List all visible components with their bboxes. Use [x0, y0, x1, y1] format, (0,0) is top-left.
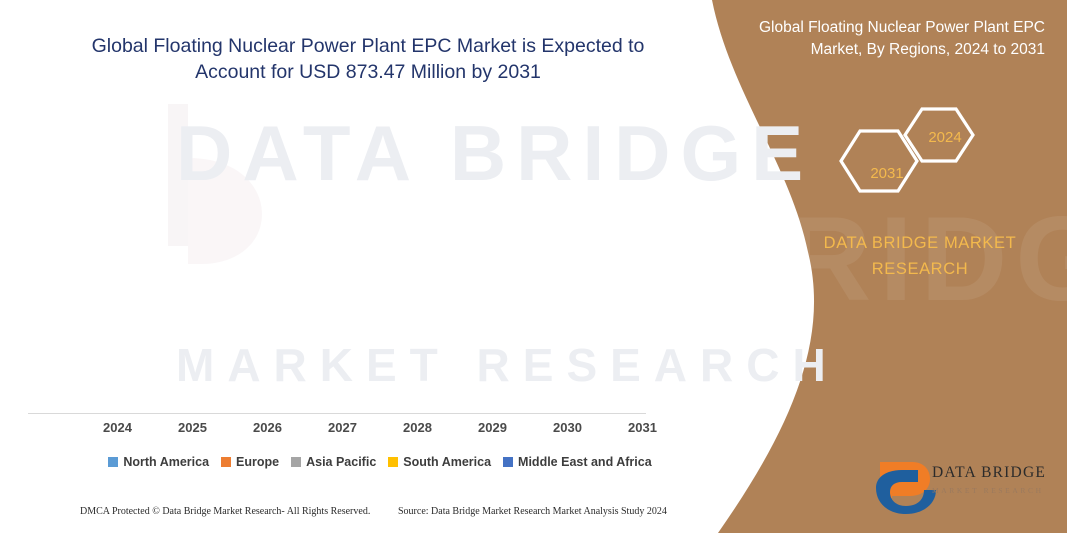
legend-swatch-icon	[503, 457, 513, 467]
x-axis-label: 2026	[233, 420, 303, 435]
x-axis-label: 2031	[608, 420, 678, 435]
legend-label: Europe	[236, 455, 279, 469]
logo-wordmark: DATA BRIDGE	[932, 464, 1046, 482]
bar-column	[608, 110, 678, 413]
brand-name-line2: RESEARCH	[790, 256, 1050, 282]
brand-name-line1: DATA BRIDGE MARKET	[790, 230, 1050, 256]
hexagon-label-2031: 2031	[852, 165, 922, 182]
x-axis-label: 2024	[83, 420, 153, 435]
bar-column	[233, 110, 303, 413]
footer-source-text: Source: Data Bridge Market Research Mark…	[398, 506, 667, 517]
x-axis-tick-labels: 20242025202620272028202920302031	[80, 420, 680, 435]
legend-label: North America	[123, 455, 209, 469]
x-axis-label: 2025	[158, 420, 228, 435]
x-axis-label: 2030	[533, 420, 603, 435]
legend-swatch-icon	[221, 457, 231, 467]
hexagon-badge-group: 2031 2024	[830, 105, 1010, 195]
logo-tagline: MARKET RESEARCH	[932, 486, 1044, 495]
legend-item[interactable]: Asia Pacific	[291, 455, 376, 469]
chart-legend: North AmericaEuropeAsia PacificSouth Ame…	[80, 455, 680, 469]
x-axis-label: 2028	[383, 420, 453, 435]
chart-plot-area	[80, 110, 680, 413]
hexagon-label-2024: 2024	[910, 129, 980, 146]
legend-swatch-icon	[291, 457, 301, 467]
right-panel-title: Global Floating Nuclear Power Plant EPC …	[735, 17, 1045, 61]
bar-column	[83, 110, 153, 413]
footer-dmca-text: DMCA Protected © Data Bridge Market Rese…	[80, 506, 370, 517]
legend-swatch-icon	[108, 457, 118, 467]
bar-column	[383, 110, 453, 413]
x-axis-label: 2027	[308, 420, 378, 435]
legend-label: Middle East and Africa	[518, 455, 652, 469]
bar-column	[533, 110, 603, 413]
legend-item[interactable]: Europe	[221, 455, 279, 469]
bar-column	[458, 110, 528, 413]
legend-item[interactable]: North America	[108, 455, 209, 469]
chart-title: Global Floating Nuclear Power Plant EPC …	[78, 33, 658, 85]
legend-swatch-icon	[388, 457, 398, 467]
legend-item[interactable]: South America	[388, 455, 491, 469]
x-axis-line	[28, 413, 646, 414]
infographic-canvas: BRIDGE DATA BRIDGE MARKET RESEARCH Globa…	[0, 0, 1067, 533]
x-axis-label: 2029	[458, 420, 528, 435]
brand-name: DATA BRIDGE MARKET RESEARCH	[790, 230, 1050, 282]
legend-label: South America	[403, 455, 491, 469]
bar-column	[158, 110, 228, 413]
legend-item[interactable]: Middle East and Africa	[503, 455, 652, 469]
stacked-bar-group	[80, 110, 680, 413]
legend-label: Asia Pacific	[306, 455, 376, 469]
bar-column	[308, 110, 378, 413]
